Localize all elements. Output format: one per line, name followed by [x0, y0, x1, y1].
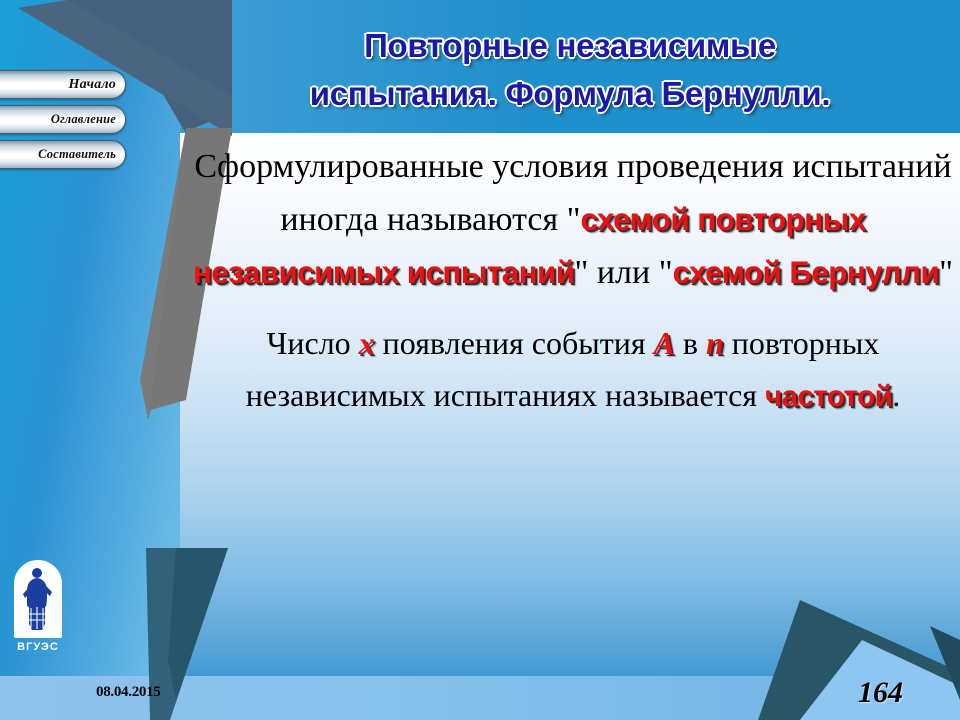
paragraph-2-highlight-1: частотой — [765, 380, 892, 413]
paragraph-1-highlight-2: схемой Бернулли — [673, 255, 940, 290]
slide-title-line-2: испытания. Формула Бернулли. — [180, 70, 960, 118]
body-paragraph-2: Число x появления события A в n повторны… — [186, 317, 960, 423]
paragraph-2-segment-5: . — [892, 377, 900, 413]
slide: Начало Оглавление Составитель Повторные … — [0, 0, 960, 720]
paragraph-2-segment-2: появления события — [375, 325, 654, 361]
slide-title: Повторные независимые испытания. Формула… — [180, 22, 960, 118]
organization-logo: ВГУЭС — [14, 560, 70, 653]
paragraph-1-segment-2: " или " — [574, 254, 672, 291]
paragraph-2-variable-x: x — [359, 325, 375, 361]
body-paragraph-1: Сформулированные условия проведения испы… — [186, 140, 960, 299]
paragraph-2-variable-a: A — [654, 325, 675, 361]
statue-figure-icon — [18, 564, 58, 634]
slide-page-number: 164 — [858, 676, 903, 710]
navigation-buttons: Начало Оглавление Составитель — [0, 70, 134, 175]
slide-date: 08.04.2015 — [96, 684, 161, 701]
paragraph-2-segment-1: Число — [267, 325, 359, 361]
nav-button-contents-label: Оглавление — [51, 112, 116, 127]
nav-button-author-label: Составитель — [38, 147, 116, 162]
nav-button-start[interactable]: Начало — [0, 70, 126, 99]
organization-logo-caption: ВГУЭС — [14, 641, 62, 653]
slide-body: Сформулированные условия проведения испы… — [186, 140, 960, 423]
nav-button-contents[interactable]: Оглавление — [0, 105, 126, 134]
statue-figure-emblem-icon — [14, 560, 62, 638]
nav-button-author[interactable]: Составитель — [0, 140, 126, 169]
paragraph-2-segment-3: в — [675, 325, 706, 361]
slide-title-line-1: Повторные независимые — [180, 22, 960, 70]
nav-button-start-label: Начало — [69, 77, 116, 93]
paragraph-1-segment-3: " — [939, 254, 953, 291]
paragraph-2-variable-n: n — [706, 325, 724, 361]
